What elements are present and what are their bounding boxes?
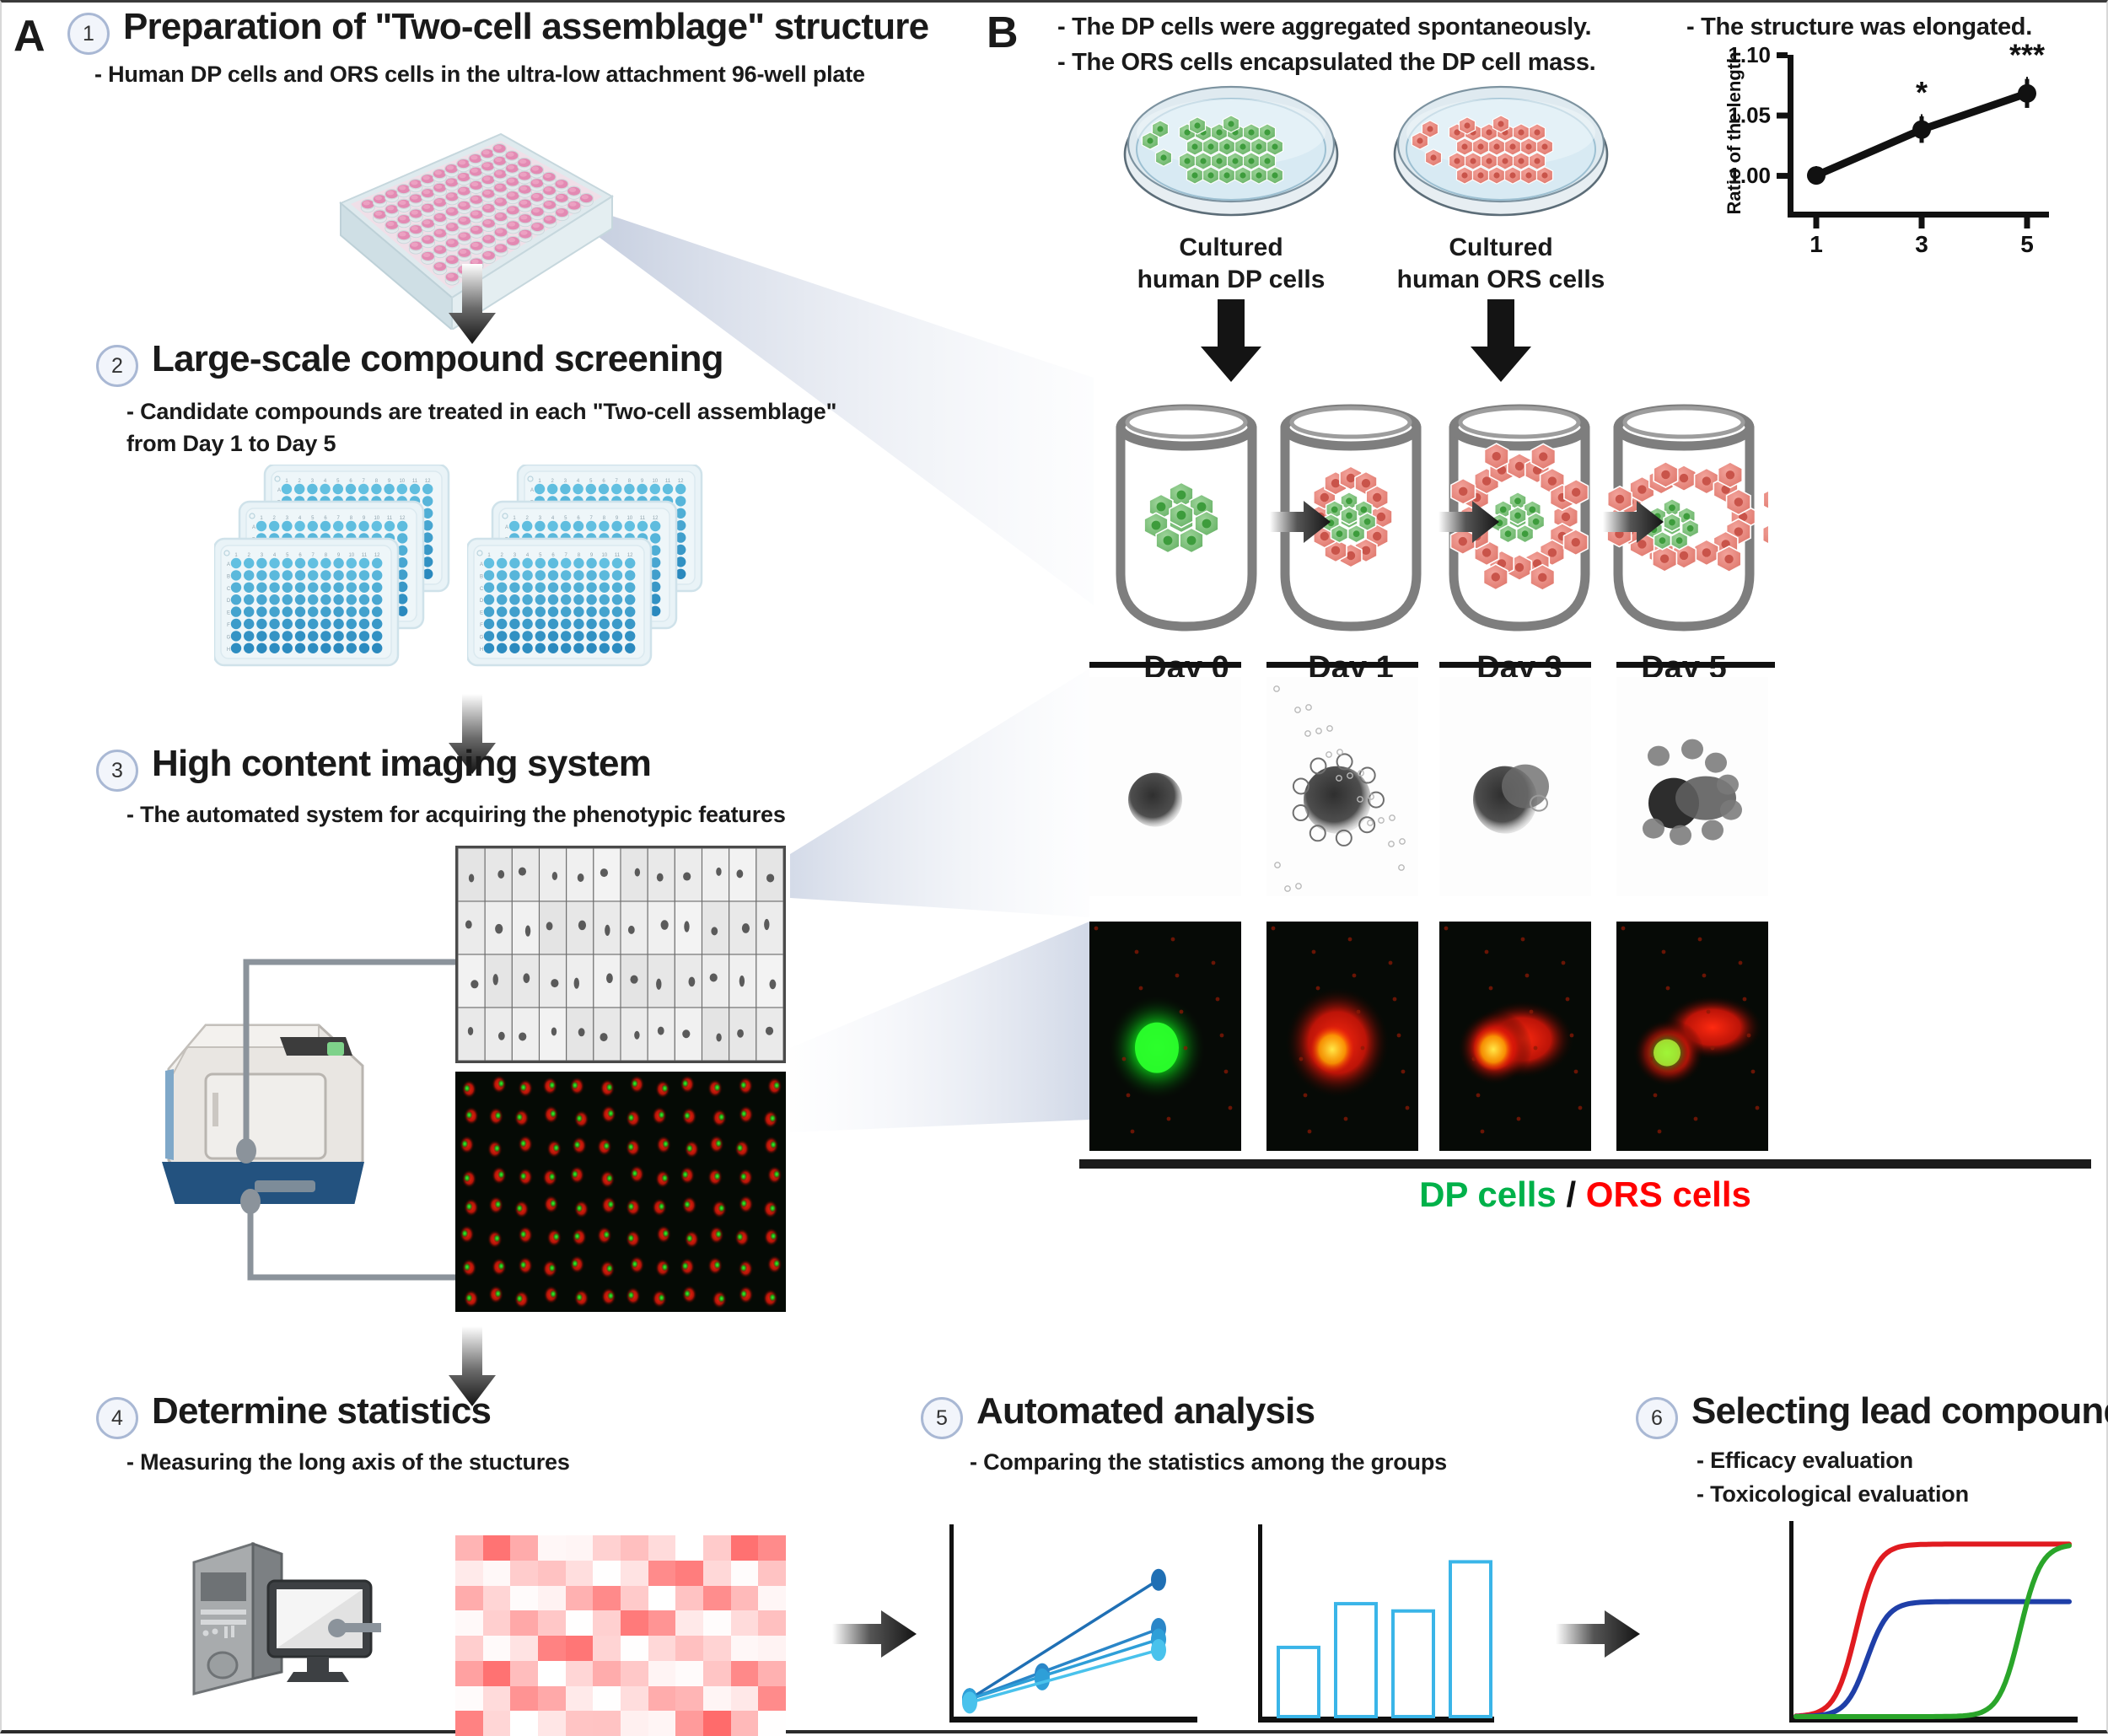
svg-text:B: B [227,574,230,579]
arrow-right-icon-day-0 [1270,500,1331,544]
step-1-heading[interactable]: 1 Preparation of "Two-cell assemblage" s… [67,8,928,55]
heatmap-cell [455,1636,483,1661]
svg-text:1: 1 [1810,231,1823,257]
figure-root: A B 1 Preparation of "Two-cell assemblag… [0,0,2108,1733]
heatmap-cell [566,1661,594,1686]
heatmap-cell [621,1586,648,1611]
svg-text:10: 10 [348,553,354,558]
heatmap-cell [510,1661,538,1686]
panel-b-bullet-1: - The DP cells were aggregated spontaneo… [1057,9,1591,45]
heatmap-cell [703,1711,731,1736]
heatmap-cell [731,1610,759,1636]
svg-text:10: 10 [652,479,658,484]
svg-text:E: E [480,611,483,616]
heatmap-cell [758,1610,786,1636]
fluorescence-image-day-3 [1439,922,1591,1151]
heatmap-cell [510,1535,538,1561]
step-2-heading[interactable]: 2 Large-scale compound screening [96,340,723,387]
heatmap-cell [758,1561,786,1586]
day-underline-1 [1266,662,1418,668]
svg-text:10: 10 [399,479,405,484]
heatmap-cell [566,1610,594,1636]
heatmap-cell [510,1586,538,1611]
heatmap-cell [538,1610,566,1636]
heatmap-cell [703,1686,731,1712]
brightfield-image-day-3 [1439,677,1591,896]
heatmap-cell [703,1561,731,1586]
panel-letter-b: B [987,8,1018,58]
svg-text:E: E [227,611,230,616]
svg-text:*: * [1916,75,1928,110]
heatmap-cell [758,1661,786,1686]
step-6-title: Selecting lead compounds [1691,1392,2108,1431]
svg-text:A: A [252,525,255,530]
legend-dp-label: DP cells [1419,1174,1557,1214]
heatmap-cell [675,1711,703,1736]
heatmap-cell [758,1586,786,1611]
heatmap-cell [675,1535,703,1561]
svg-text:H: H [480,648,483,653]
culture-well-0 [1102,397,1271,642]
heatmap-cell [675,1661,703,1686]
heatmap-cell [455,1586,483,1611]
heatmap-cell [566,1561,594,1586]
heatmap-cell [483,1686,511,1712]
heatmap-cell [621,1535,648,1561]
step-4-subtitle: - Measuring the long axis of the stuctur… [126,1448,570,1478]
svg-text:10: 10 [601,553,607,558]
svg-text:10: 10 [374,516,379,521]
step-4-heading[interactable]: 4 Determine statistics [96,1392,491,1439]
heatmap-cell [538,1686,566,1712]
heatmap-cell [483,1661,511,1686]
desktop-computer-icon [187,1529,381,1706]
step-5-number: 5 [921,1397,963,1439]
svg-text:11: 11 [387,516,393,521]
heatmap-cell [648,1636,676,1661]
heatmap-cell [510,1561,538,1586]
heatmap-cell [648,1711,676,1736]
heatmap-cell [648,1561,676,1586]
heatmap-cell [566,1636,594,1661]
heatmap-cell [593,1535,621,1561]
heatmap-cell [621,1610,648,1636]
heatmap-cell [703,1661,731,1686]
heatmap-cell [731,1561,759,1586]
heatmap-cell [621,1686,648,1712]
svg-text:12: 12 [400,516,406,521]
day-underline-2 [1439,662,1591,668]
arrow-down-icon-1 [447,264,497,344]
microplate-stack-icon-right: 123456789101112ABCDEFGH123456789101112AB… [467,465,712,688]
heatmap-cell [648,1686,676,1712]
heatmap-cell [731,1636,759,1661]
group-comparison-bar-chart [1250,1516,1511,1735]
svg-text:10: 10 [626,516,632,521]
arrow-right-icon-day-2 [1603,500,1664,544]
heatmap-cell [648,1535,676,1561]
dish-caption-dp: Cultured human DP cells [1113,232,1349,297]
heatmap-cell [648,1661,676,1686]
svg-text:C: C [227,587,231,592]
heatmap-cell [510,1636,538,1661]
dish-caption-dp-line1: Cultured [1113,232,1349,264]
fluorescence-image-day-1 [1266,922,1418,1151]
step-2-subtitle-line1: - Candidate compounds are treated in eac… [126,397,836,427]
heatmap-cell [675,1686,703,1712]
step-2-title: Large-scale compound screening [152,340,723,379]
step-3-number: 3 [96,750,138,792]
svg-text:D: D [480,599,484,604]
dish-caption-ors: Cultured human ORS cells [1383,232,1619,297]
step-6-heading[interactable]: 6 Selecting lead compounds [1636,1392,2108,1439]
step-2-number: 2 [96,345,138,387]
arrow-right-icon-day-1 [1438,500,1499,544]
panel-letter-a: A [13,11,45,62]
svg-text:5: 5 [2020,231,2034,257]
arrow-right-icon-1 [832,1609,917,1659]
svg-text:12: 12 [374,553,380,558]
heatmap-cell [621,1661,648,1686]
brightfield-image-day-5 [1616,677,1768,896]
heatmap-cell [593,1586,621,1611]
dish-caption-dp-line2: human DP cells [1113,264,1349,296]
brightfield-well-grid-image [455,846,786,1063]
heatmap-cell [538,1711,566,1736]
svg-text:A: A [227,562,230,567]
fluorescence-legend: DP cells / ORS cells [1079,1174,2091,1215]
dish-caption-ors-line2: human ORS cells [1383,264,1619,296]
heatmap-cell [455,1561,483,1586]
heatmap-cell [538,1535,566,1561]
heatmap-cell [675,1586,703,1611]
heatmap-cell [593,1636,621,1661]
step-4-title: Determine statistics [152,1392,491,1431]
heatmap-cell [483,1561,511,1586]
heatmap-cell [758,1711,786,1736]
svg-text:Ratio of the length: Ratio of the length [1724,51,1745,214]
step-1-number: 1 [67,13,110,55]
petri-dish-icon-dp [1113,77,1349,220]
svg-text:11: 11 [362,553,368,558]
heatmap-cell [703,1586,731,1611]
step-4-number: 4 [96,1397,138,1439]
heatmap-cell [621,1711,648,1736]
svg-text:H: H [227,648,230,653]
svg-text:11: 11 [615,553,621,558]
step-6-subtitle-line1: - Efficacy evaluation [1697,1446,1913,1476]
dose-response-curve-chart [1781,1516,2093,1735]
heatmap-cell [648,1586,676,1611]
brightfield-image-day-1 [1266,677,1418,896]
fluorescence-image-day-0 [1089,922,1241,1151]
svg-text:F: F [480,623,483,628]
fluorescence-image-day-5 [1616,922,1768,1151]
step-3-heading[interactable]: 3 High content imaging system [96,744,651,792]
step-3-title: High content imaging system [152,744,651,783]
heatmap-cell [566,1586,594,1611]
svg-text:F: F [227,623,230,628]
svg-text:12: 12 [653,516,659,521]
svg-text:***: *** [2009,40,2045,73]
svg-text:A: A [277,488,281,493]
heatmap-cell [731,1661,759,1686]
day-underline-0 [1089,662,1241,668]
heatmap-cell [703,1610,731,1636]
heatmap-cell [455,1610,483,1636]
heatmap-cell [510,1686,538,1712]
heatmap-cell [675,1636,703,1661]
heatmap-cell [703,1535,731,1561]
paired-dot-plot-chart [938,1516,1216,1735]
arrow-right-icon-2 [1556,1609,1640,1659]
svg-text:11: 11 [412,479,418,484]
heatmap-cell [455,1535,483,1561]
heatmap-cell [538,1636,566,1661]
svg-text:12: 12 [678,479,684,484]
step-6-number: 6 [1636,1397,1678,1439]
heatmap-cell [510,1610,538,1636]
heatmap-cell [758,1686,786,1712]
dish-caption-ors-line1: Cultured [1383,232,1619,264]
heatmap-cell [483,1711,511,1736]
step-5-subtitle: - Comparing the statistics among the gro… [970,1448,1447,1478]
heatmap-cell [538,1586,566,1611]
heatmap-cell [593,1610,621,1636]
svg-text:G: G [480,635,484,640]
panel-b-bullet-2: - The ORS cells encapsulated the DP cell… [1057,45,1595,80]
heatmap-cell [593,1686,621,1712]
heatmap-cell [593,1711,621,1736]
panel-b-bottom-rule [1079,1159,2091,1169]
svg-text:A: A [505,525,508,530]
heatmap-cell [648,1610,676,1636]
svg-text:C: C [480,587,484,592]
heatmap-cell [538,1661,566,1686]
heatmap-cell [703,1636,731,1661]
svg-text:G: G [227,635,231,640]
step-2-subtitle-line2: from Day 1 to Day 5 [126,429,336,460]
arrow-down-icon-dp [1197,299,1265,382]
svg-text:A: A [480,562,483,567]
step-5-title: Automated analysis [976,1392,1315,1431]
heatmap-cell [758,1636,786,1661]
fluorescence-well-grid-image [455,1072,786,1312]
heatmap-cell [675,1610,703,1636]
heatmap-cell [675,1561,703,1586]
brightfield-image-day-0 [1089,677,1241,896]
heatmap-cell [538,1561,566,1586]
svg-text:B: B [480,574,483,579]
arrow-down-icon-ors [1467,299,1535,382]
ratio-of-length-chart: 1.001.051.10135****DayRatio of the lengt… [1705,40,2059,259]
heatmap-cell [621,1561,648,1586]
heatmap-cell [510,1711,538,1736]
heatmap-cell [566,1711,594,1736]
step-3-subtitle: - The automated system for acquiring the… [126,800,786,830]
heatmap-cell [731,1686,759,1712]
heatmap-cell [483,1535,511,1561]
statistics-heatmap [455,1535,786,1736]
step-1-subtitle: - Human DP cells and ORS cells in the ul… [94,60,865,90]
heatmap-cell [731,1711,759,1736]
heatmap-cell [566,1535,594,1561]
heatmap-cell [593,1661,621,1686]
legend-separator: / [1566,1174,1576,1214]
svg-text:12: 12 [425,479,431,484]
heatmap-cell [455,1686,483,1712]
step-5-heading[interactable]: 5 Automated analysis [921,1392,1315,1439]
day-underline-3 [1616,662,1775,668]
heatmap-cell [483,1586,511,1611]
heatmap-cell [483,1610,511,1636]
step-1-title: Preparation of "Two-cell assemblage" str… [123,8,928,46]
heatmap-cell [566,1686,594,1712]
svg-text:3: 3 [1915,231,1928,257]
svg-text:A: A [530,488,534,493]
heatmap-cell [621,1636,648,1661]
svg-text:11: 11 [640,516,646,521]
heatmap-cell [731,1535,759,1561]
heatmap-cell [483,1636,511,1661]
heatmap-cell [455,1661,483,1686]
svg-text:D: D [227,599,231,604]
microplate-stack-icon-left: 123456789101112ABCDEFGH123456789101112AB… [214,465,459,688]
petri-dish-icon-ors [1383,77,1619,220]
heatmap-cell [731,1586,759,1611]
heatmap-cell [593,1561,621,1586]
heatmap-cell [455,1711,483,1736]
svg-text:11: 11 [665,479,671,484]
svg-text:12: 12 [627,553,633,558]
step-6-subtitle-line2: - Toxicological evaluation [1697,1480,1969,1510]
legend-ors-label: ORS cells [1586,1174,1751,1214]
heatmap-cell [758,1535,786,1561]
